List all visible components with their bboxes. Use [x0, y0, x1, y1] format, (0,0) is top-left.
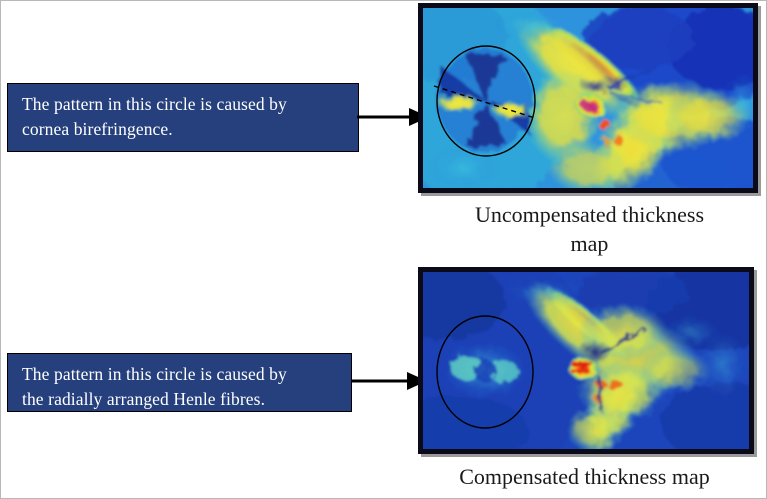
caption-top-line-2: map — [421, 230, 758, 259]
caption-compensated: Compensated thickness map — [401, 463, 767, 492]
caption-uncompensated: Uncompensated thickness map — [421, 201, 758, 258]
callout-2-line-1: The pattern in this circle is caused by — [22, 362, 339, 387]
figure-compensated-thickness-map — [418, 267, 754, 454]
callout-box-cornea-birefringence: The pattern in this circle is caused by … — [7, 83, 359, 152]
caption-top-line-1: Uncompensated thickness — [421, 201, 758, 230]
callout-2-line-2: the radially arranged Henle fibres. — [22, 387, 339, 412]
callout-1-line-1: The pattern in this circle is caused by — [22, 92, 346, 117]
heatmap-uncompensated — [423, 8, 753, 188]
callout-1-line-2: cornea birefringence. — [22, 117, 346, 142]
figure-uncompensated-thickness-map — [418, 3, 758, 193]
heatmap-compensated — [423, 272, 749, 449]
caption-bottom-line-1: Compensated thickness map — [401, 463, 767, 492]
figure-page: The pattern in this circle is caused by … — [0, 0, 767, 499]
arrow-to-bottom-figure — [351, 369, 427, 393]
callout-box-henle-fibres: The pattern in this circle is caused by … — [7, 353, 352, 412]
